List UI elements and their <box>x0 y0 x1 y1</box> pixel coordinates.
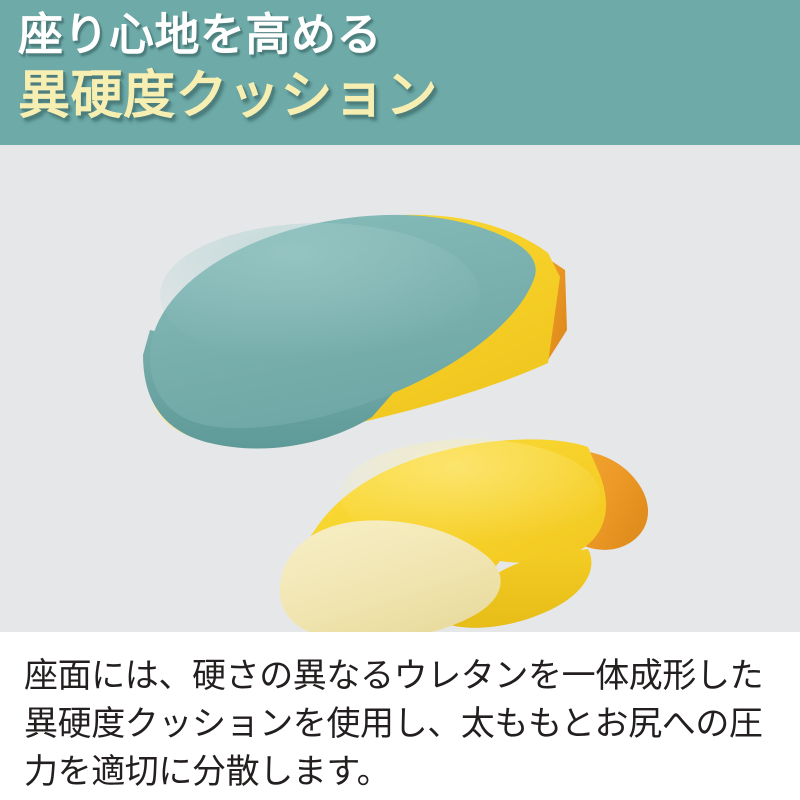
header-title-line-1: 座り心地を高める <box>18 6 382 64</box>
caption-line-2: 異硬度クッションを使用し、太ももとお尻への圧 <box>24 700 778 748</box>
cushion-cover-highlight <box>160 223 480 367</box>
caption-block: 座面には、硬さの異なるウレタンを一体成形した 異硬度クッションを使用し、太ももと… <box>0 632 800 800</box>
product-feature-panel: 座り心地を高める 異硬度クッション <box>0 0 800 800</box>
cushion-illustration: Soft Hard <box>0 145 800 632</box>
caption-line-3: 力を適切に分散します。 <box>24 748 778 796</box>
cushion-exploded-diagram <box>0 145 800 632</box>
caption-line-1: 座面には、硬さの異なるウレタンを一体成形した <box>24 652 778 700</box>
header-title-line-2: 異硬度クッション <box>18 64 438 128</box>
foam-pad-highlight <box>340 439 600 551</box>
header-banner: 座り心地を高める 異硬度クッション <box>0 0 800 145</box>
